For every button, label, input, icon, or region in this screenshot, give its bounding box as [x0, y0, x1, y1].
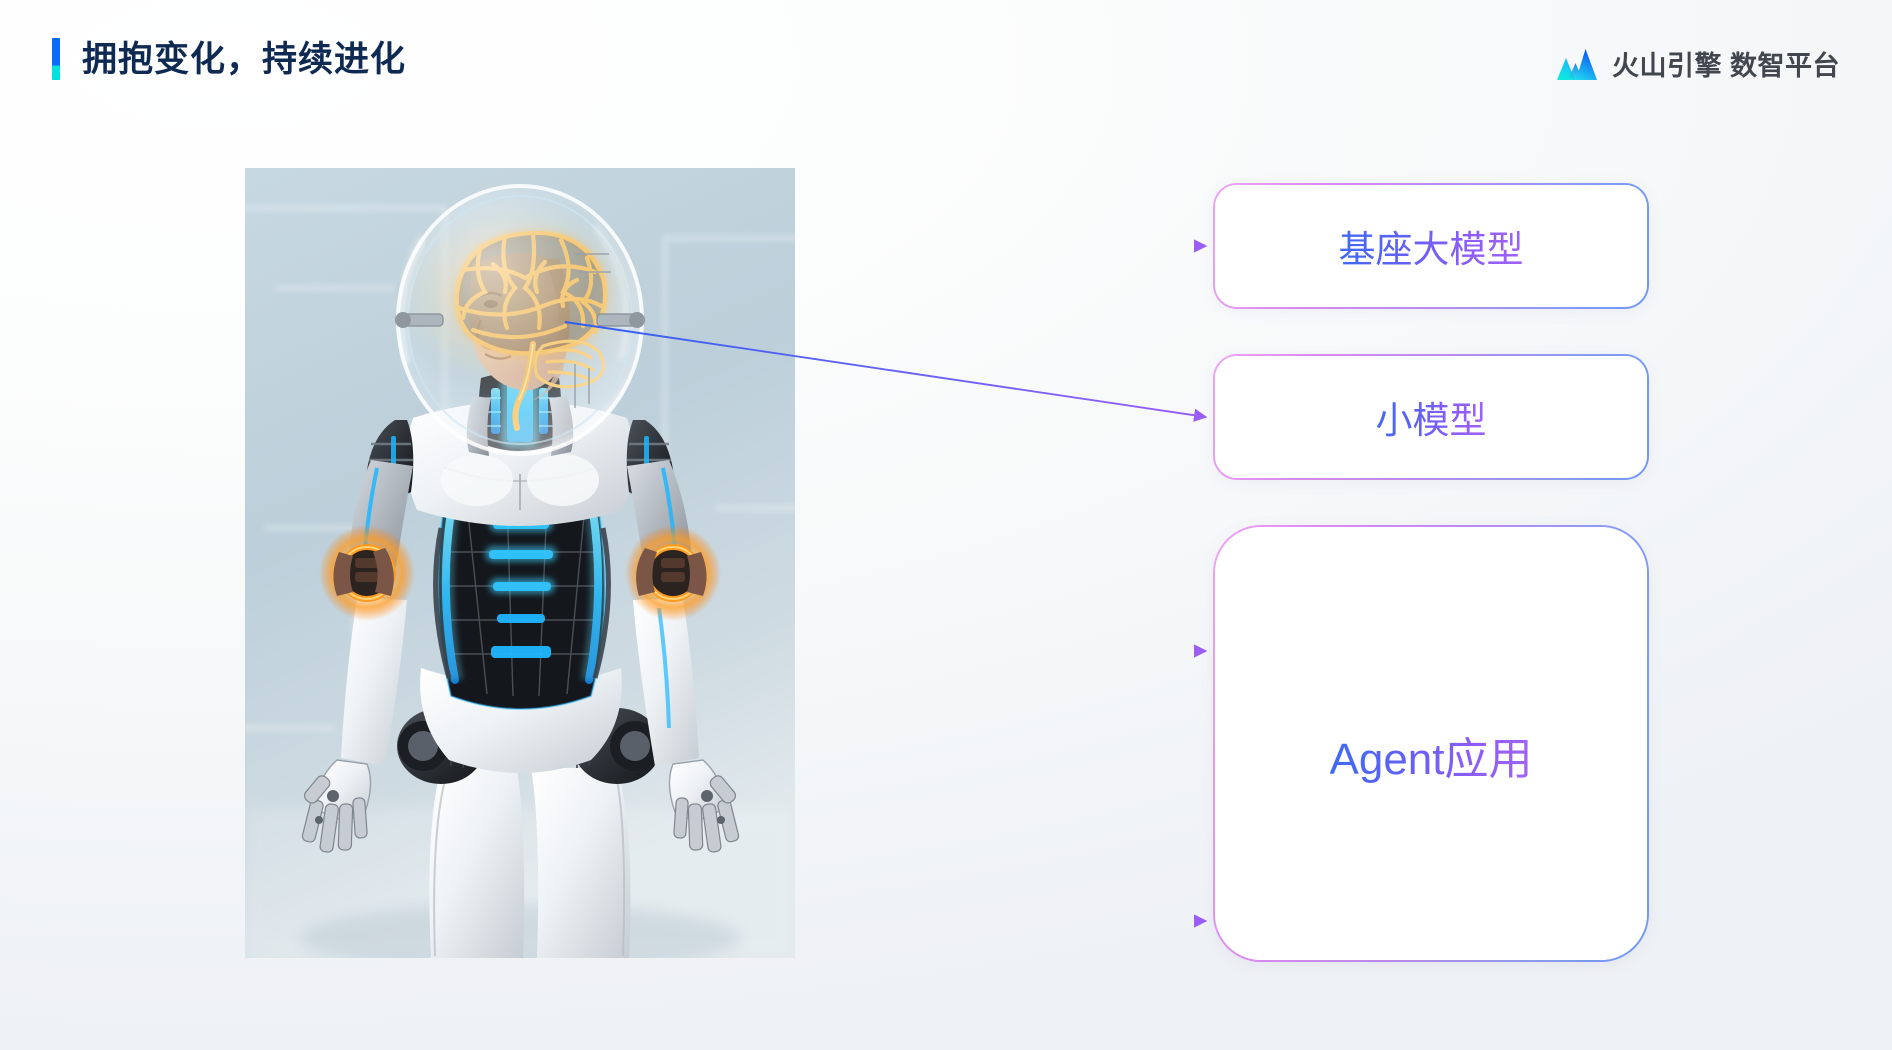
humanoid-robot-photo — [245, 168, 795, 958]
card-label: 基座大模型 — [1339, 219, 1524, 273]
title-group: 拥抱变化，持续进化 — [52, 38, 406, 80]
card-label: 小模型 — [1376, 390, 1487, 444]
card-label: Agent应用 — [1330, 723, 1533, 787]
page-header: 拥抱变化，持续进化 火山引擎 — [0, 0, 1892, 120]
card-small-model[interactable]: 小模型 — [1215, 356, 1647, 478]
card-foundation-model[interactable]: 基座大模型 — [1215, 185, 1647, 307]
title-accent-bar — [52, 38, 60, 80]
volcano-mountain-icon — [1556, 47, 1598, 81]
page-title: 拥抱变化，持续进化 — [82, 42, 406, 77]
brand-name: 火山引擎 数智平台 — [1612, 44, 1840, 83]
card-agent-application[interactable]: Agent应用 — [1215, 527, 1647, 960]
brand-logo-group: 火山引擎 数智平台 — [1556, 44, 1840, 83]
